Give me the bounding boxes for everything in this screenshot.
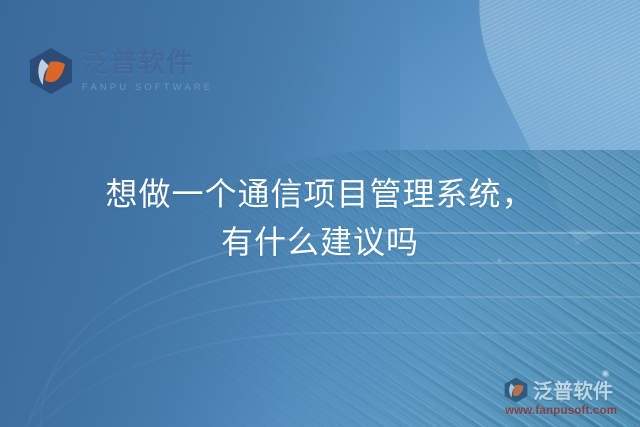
watermark: 泛普软件 www.fanpusoft.com (503, 375, 635, 417)
brand-logo-text: 泛普软件 FANPU SOFTWARE (82, 50, 213, 93)
watermark-brand-row: 泛普软件 (503, 375, 635, 404)
brand-name-en: FANPU SOFTWARE (82, 83, 213, 93)
promo-banner: 泛普软件 FANPU SOFTWARE 想做一个通信项目管理系统， 有什么建议吗… (0, 0, 640, 427)
watermark-fanpu-hexagon-icon (503, 377, 529, 403)
brand-logo: 泛普软件 FANPU SOFTWARE (28, 47, 213, 95)
fanpu-hexagon-icon (28, 47, 74, 95)
watermark-brand-name: 泛普软件 (533, 375, 613, 404)
watermark-url: www.fanpusoft.com (505, 405, 635, 417)
page-title: 想做一个通信项目管理系统， 有什么建议吗 (0, 170, 640, 266)
brand-name-cn: 泛普软件 (82, 50, 213, 77)
